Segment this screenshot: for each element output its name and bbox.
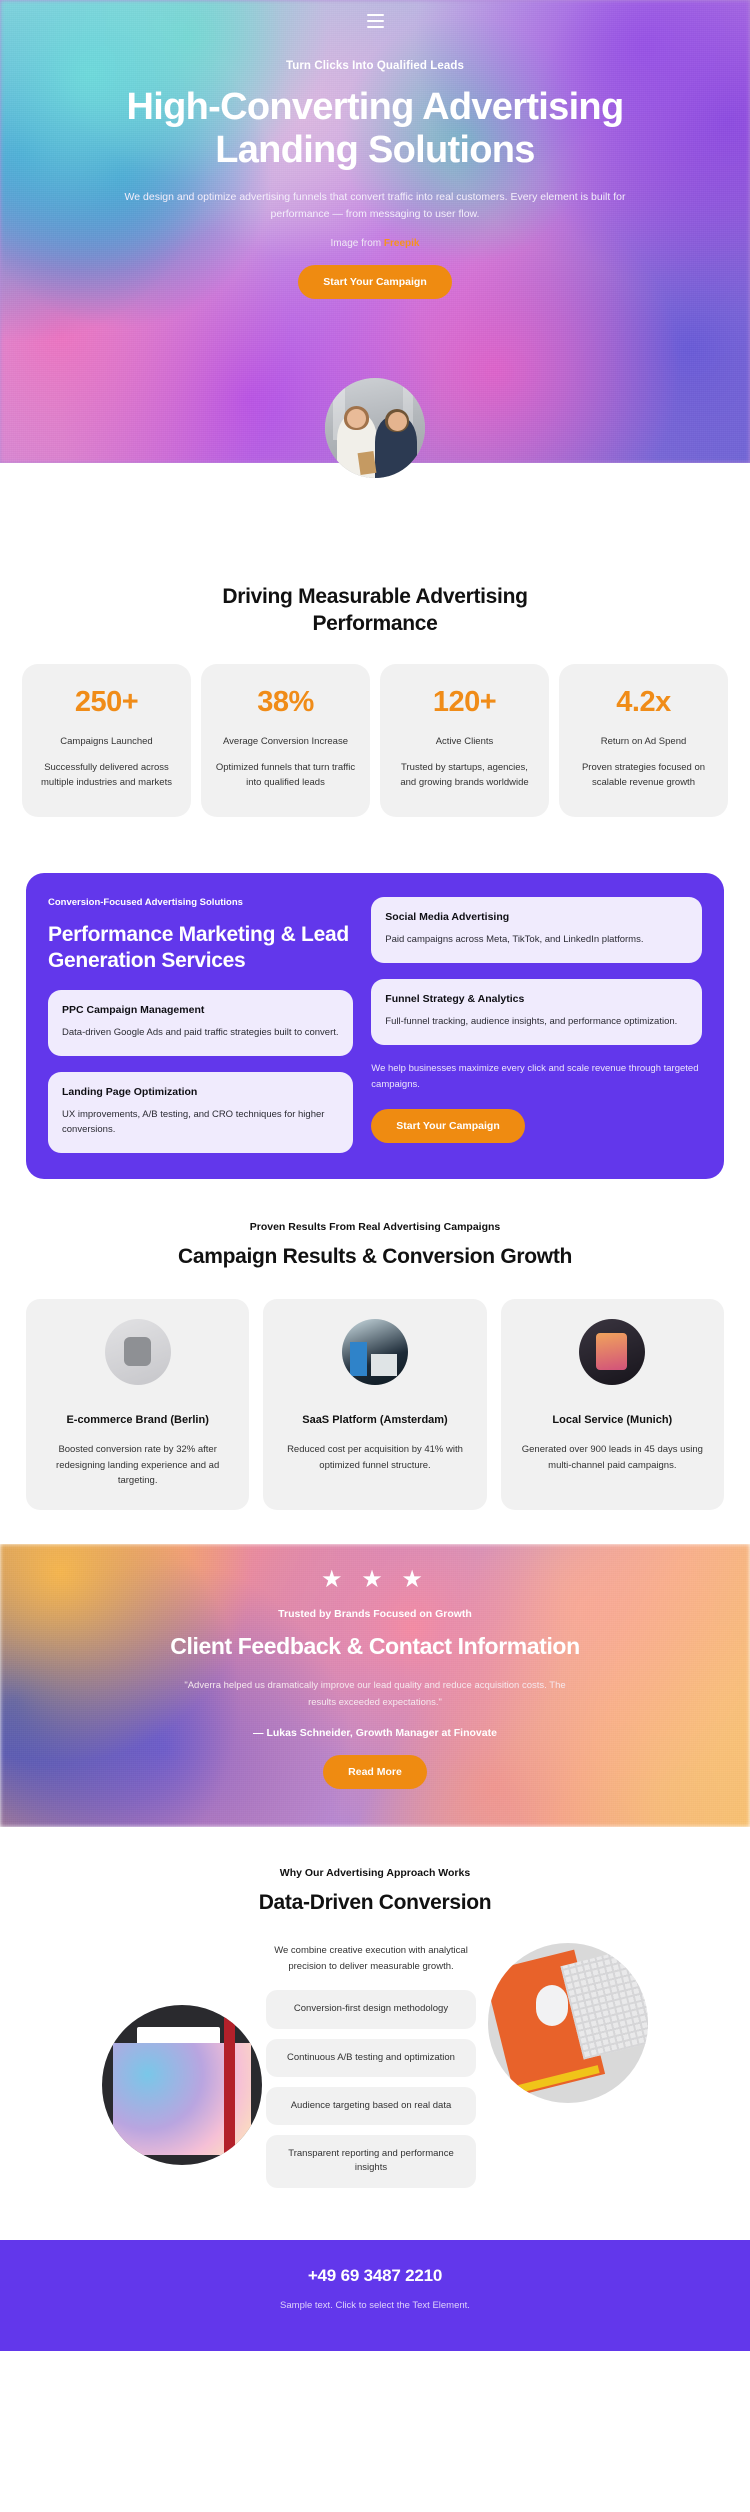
testimonial-eyebrow: Trusted by Brands Focused on Growth bbox=[0, 1608, 750, 1620]
stat-value: 38% bbox=[213, 686, 358, 719]
star-rating-icon: ★ ★ ★ bbox=[0, 1568, 750, 1592]
services-left-column: Conversion-Focused Advertising Solutions… bbox=[48, 897, 353, 1154]
case-name: E-commerce Brand (Berlin) bbox=[42, 1413, 233, 1429]
service-card-description: Full-funnel tracking, audience insights,… bbox=[385, 1014, 688, 1029]
case-name: SaaS Platform (Amsterdam) bbox=[279, 1413, 470, 1429]
hamburger-menu-icon[interactable] bbox=[358, 8, 392, 34]
hero-subtitle: We design and optimize advertising funne… bbox=[115, 189, 635, 224]
stat-label: Active Clients bbox=[392, 735, 537, 749]
service-card[interactable]: Landing Page Optimization UX improvement… bbox=[48, 1072, 353, 1153]
footer-note: Sample text. Click to select the Text El… bbox=[0, 2300, 750, 2311]
local-service-thumbnail-icon bbox=[579, 1319, 645, 1385]
service-card-description: UX improvements, A/B testing, and CRO te… bbox=[62, 1107, 339, 1137]
stat-value: 120+ bbox=[392, 686, 537, 719]
stat-card: 120+ Active Clients Trusted by startups,… bbox=[380, 664, 549, 817]
approach-item[interactable]: Transparent reporting and performance in… bbox=[266, 2135, 476, 2188]
footer: +49 69 3487 2210 Sample text. Click to s… bbox=[0, 2240, 750, 2351]
approach-title: Data-Driven Conversion bbox=[0, 1891, 750, 1915]
service-card-title: Landing Page Optimization bbox=[62, 1086, 339, 1098]
approach-list: We combine creative execution with analy… bbox=[266, 1943, 476, 2198]
testimonial-quote: "Adverra helped us dramatically improve … bbox=[180, 1678, 570, 1711]
case-card: SaaS Platform (Amsterdam) Reduced cost p… bbox=[263, 1299, 486, 1510]
case-description: Generated over 900 leads in 45 days usin… bbox=[517, 1442, 708, 1472]
ecommerce-thumbnail-icon bbox=[105, 1319, 171, 1385]
stat-label: Return on Ad Spend bbox=[571, 735, 716, 749]
footer-phone[interactable]: +49 69 3487 2210 bbox=[0, 2266, 750, 2286]
stat-description: Trusted by startups, agencies, and growi… bbox=[392, 761, 537, 790]
services-cta-button[interactable]: Start Your Campaign bbox=[371, 1109, 524, 1143]
approach-item[interactable]: Continuous A/B testing and optimization bbox=[266, 2039, 476, 2077]
cases-grid: E-commerce Brand (Berlin) Boosted conver… bbox=[0, 1299, 750, 1510]
case-card: Local Service (Munich) Generated over 90… bbox=[501, 1299, 724, 1510]
services-note: We help businesses maximize every click … bbox=[371, 1061, 702, 1092]
stat-value: 4.2x bbox=[571, 686, 716, 719]
services-panel: Conversion-Focused Advertising Solutions… bbox=[26, 873, 724, 1180]
image-credit-prefix: Image from bbox=[331, 238, 384, 249]
case-description: Reduced cost per acquisition by 41% with… bbox=[279, 1442, 470, 1472]
services-eyebrow: Conversion-Focused Advertising Solutions bbox=[48, 897, 353, 908]
image-credit: Image from Freepik bbox=[0, 238, 750, 249]
stat-description: Successfully delivered across multiple i… bbox=[34, 761, 179, 790]
cases-eyebrow: Proven Results From Real Advertising Cam… bbox=[0, 1221, 750, 1233]
testimonial-author: — Lukas Schneider, Growth Manager at Fin… bbox=[0, 1727, 750, 1739]
approach-lead: We combine creative execution with analy… bbox=[266, 1943, 476, 1974]
read-more-button[interactable]: Read More bbox=[323, 1755, 427, 1789]
service-card[interactable]: Social Media Advertising Paid campaigns … bbox=[371, 897, 702, 963]
service-card[interactable]: Funnel Strategy & Analytics Full-funnel … bbox=[371, 979, 702, 1045]
approach-eyebrow: Why Our Advertising Approach Works bbox=[0, 1867, 750, 1879]
stat-label: Campaigns Launched bbox=[34, 735, 179, 749]
stat-description: Proven strategies focused on scalable re… bbox=[571, 761, 716, 790]
stats-grid: 250+ Campaigns Launched Successfully del… bbox=[0, 664, 750, 817]
cases-title: Campaign Results & Conversion Growth bbox=[0, 1245, 750, 1269]
service-card-title: PPC Campaign Management bbox=[62, 1004, 339, 1016]
stat-card: 250+ Campaigns Launched Successfully del… bbox=[22, 664, 191, 817]
services-title: Performance Marketing & Lead Generation … bbox=[48, 922, 353, 974]
stats-section-title: Driving Measurable Advertising Performan… bbox=[160, 583, 590, 638]
service-card[interactable]: PPC Campaign Management Data-driven Goog… bbox=[48, 990, 353, 1056]
stat-card: 38% Average Conversion Increase Optimize… bbox=[201, 664, 370, 817]
freepik-link[interactable]: Freepik bbox=[384, 238, 420, 249]
case-name: Local Service (Munich) bbox=[517, 1413, 708, 1429]
billboard-poster-mockup-image bbox=[102, 2005, 262, 2165]
service-card-description: Data-driven Google Ads and paid traffic … bbox=[62, 1025, 339, 1040]
service-card-description: Paid campaigns across Meta, TikTok, and … bbox=[385, 932, 688, 947]
approach-section: Why Our Advertising Approach Works Data-… bbox=[0, 1827, 750, 2240]
services-right-column: Social Media Advertising Paid campaigns … bbox=[371, 897, 702, 1154]
approach-item[interactable]: Conversion-first design methodology bbox=[266, 1990, 476, 2028]
services-section: Conversion-Focused Advertising Solutions… bbox=[0, 851, 750, 1180]
approach-item[interactable]: Audience targeting based on real data bbox=[266, 2087, 476, 2125]
avatar bbox=[325, 378, 425, 478]
case-studies-section: Proven Results From Real Advertising Cam… bbox=[0, 1179, 750, 1544]
service-card-title: Funnel Strategy & Analytics bbox=[385, 993, 688, 1005]
stat-card: 4.2x Return on Ad Spend Proven strategie… bbox=[559, 664, 728, 817]
hero-cta-button[interactable]: Start Your Campaign bbox=[298, 265, 451, 299]
saas-thumbnail-icon bbox=[342, 1319, 408, 1385]
testimonial-title: Client Feedback & Contact Information bbox=[0, 1633, 750, 1660]
stats-section: Driving Measurable Advertising Performan… bbox=[0, 463, 750, 851]
stat-value: 250+ bbox=[34, 686, 179, 719]
stat-description: Optimized funnels that turn traffic into… bbox=[213, 761, 358, 790]
testimonial-section: ★ ★ ★ Trusted by Brands Focused on Growt… bbox=[0, 1544, 750, 1827]
case-card: E-commerce Brand (Berlin) Boosted conver… bbox=[26, 1299, 249, 1510]
orange-desk-supplies-image bbox=[488, 1943, 648, 2103]
service-card-title: Social Media Advertising bbox=[385, 911, 688, 923]
case-description: Boosted conversion rate by 32% after red… bbox=[42, 1442, 233, 1488]
page-title: High-Converting Advertising Landing Solu… bbox=[95, 86, 655, 172]
hero-eyebrow: Turn Clicks Into Qualified Leads bbox=[0, 60, 750, 72]
stat-label: Average Conversion Increase bbox=[213, 735, 358, 749]
